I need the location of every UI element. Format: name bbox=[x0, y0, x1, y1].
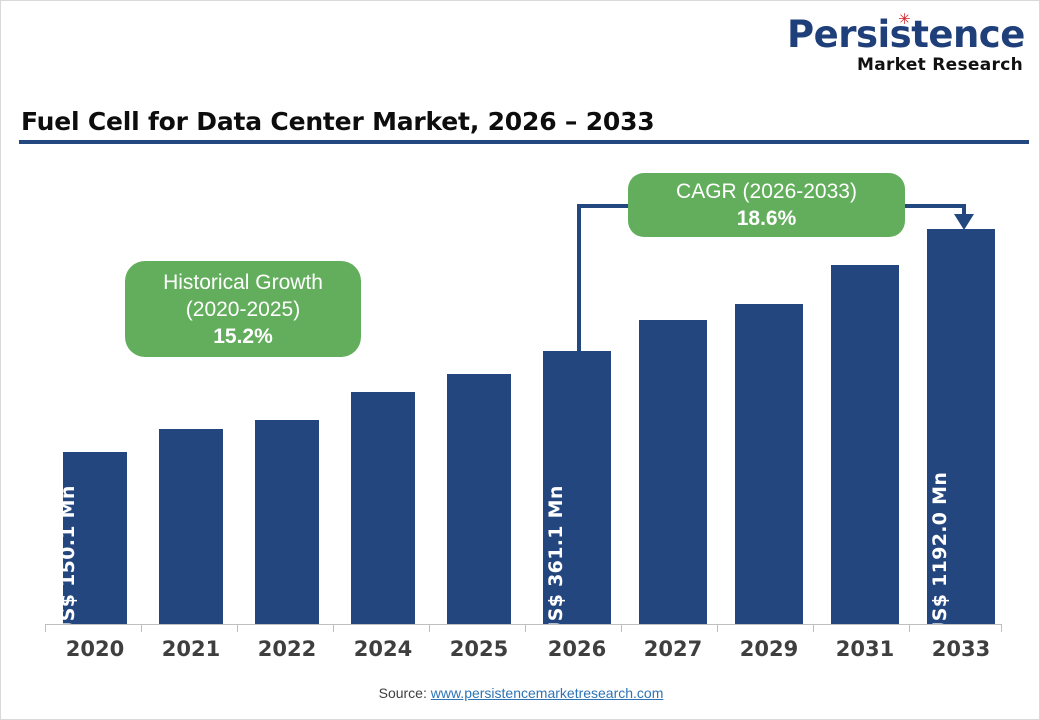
source-link[interactable]: www.persistencemarketresearch.com bbox=[431, 685, 664, 701]
cagr-arrow-icon bbox=[954, 214, 974, 230]
x-tick-label-2020: 2020 bbox=[47, 637, 143, 661]
x-tick-label-2025: 2025 bbox=[431, 637, 527, 661]
x-tick-label-2027: 2027 bbox=[625, 637, 721, 661]
x-tick-label-2026: 2026 bbox=[529, 637, 625, 661]
bar-2027 bbox=[639, 320, 707, 624]
bar-2029 bbox=[735, 304, 803, 624]
x-tick-label-2029: 2029 bbox=[721, 637, 817, 661]
source-note: Source: www.persistencemarketresearch.co… bbox=[1, 685, 1040, 701]
axis-tick bbox=[429, 624, 430, 632]
bar-2025 bbox=[447, 374, 511, 624]
axis-tick bbox=[237, 624, 238, 632]
axis-tick bbox=[333, 624, 334, 632]
bar-label-2026: US$ 361.1 Mn bbox=[545, 485, 567, 637]
x-axis-line bbox=[45, 624, 1002, 625]
historical-growth-value: 15.2% bbox=[213, 323, 273, 350]
x-tick-label-2022: 2022 bbox=[239, 637, 335, 661]
axis-tick bbox=[813, 624, 814, 632]
cagr-value: 18.6% bbox=[737, 205, 797, 232]
x-tick-label-2033: 2033 bbox=[913, 637, 1009, 661]
cagr-callout: CAGR (2026-2033) 18.6% bbox=[628, 173, 905, 237]
x-tick-label-2021: 2021 bbox=[143, 637, 239, 661]
source-prefix: Source: bbox=[379, 685, 431, 701]
x-tick-label-2024: 2024 bbox=[335, 637, 431, 661]
bar-label-2033: US$ 1192.0 Mn bbox=[929, 472, 951, 637]
bar-2024 bbox=[351, 392, 415, 624]
bar-chart: US$ 150.1 Mn US$ 361.1 Mn US$ 1192.0 Mn … bbox=[1, 1, 1040, 720]
axis-tick bbox=[525, 624, 526, 632]
cagr-title: CAGR (2026-2033) bbox=[676, 178, 857, 205]
bar-2031 bbox=[831, 265, 899, 624]
axis-tick bbox=[45, 624, 46, 632]
axis-tick bbox=[141, 624, 142, 632]
bar-label-2020: US$ 150.1 Mn bbox=[57, 485, 79, 637]
axis-tick bbox=[909, 624, 910, 632]
axis-tick bbox=[621, 624, 622, 632]
historical-growth-period: (2020-2025) bbox=[186, 296, 300, 323]
cagr-connector-vertical-start bbox=[577, 207, 581, 353]
bar-2022 bbox=[255, 420, 319, 624]
axis-tick bbox=[1001, 624, 1002, 632]
historical-growth-title: Historical Growth bbox=[163, 269, 323, 296]
x-tick-label-2031: 2031 bbox=[817, 637, 913, 661]
chart-page: Persistence ✳ Market Research Fuel Cell … bbox=[0, 0, 1040, 720]
historical-growth-callout: Historical Growth (2020-2025) 15.2% bbox=[125, 261, 361, 357]
axis-tick bbox=[717, 624, 718, 632]
bar-2021 bbox=[159, 429, 223, 624]
